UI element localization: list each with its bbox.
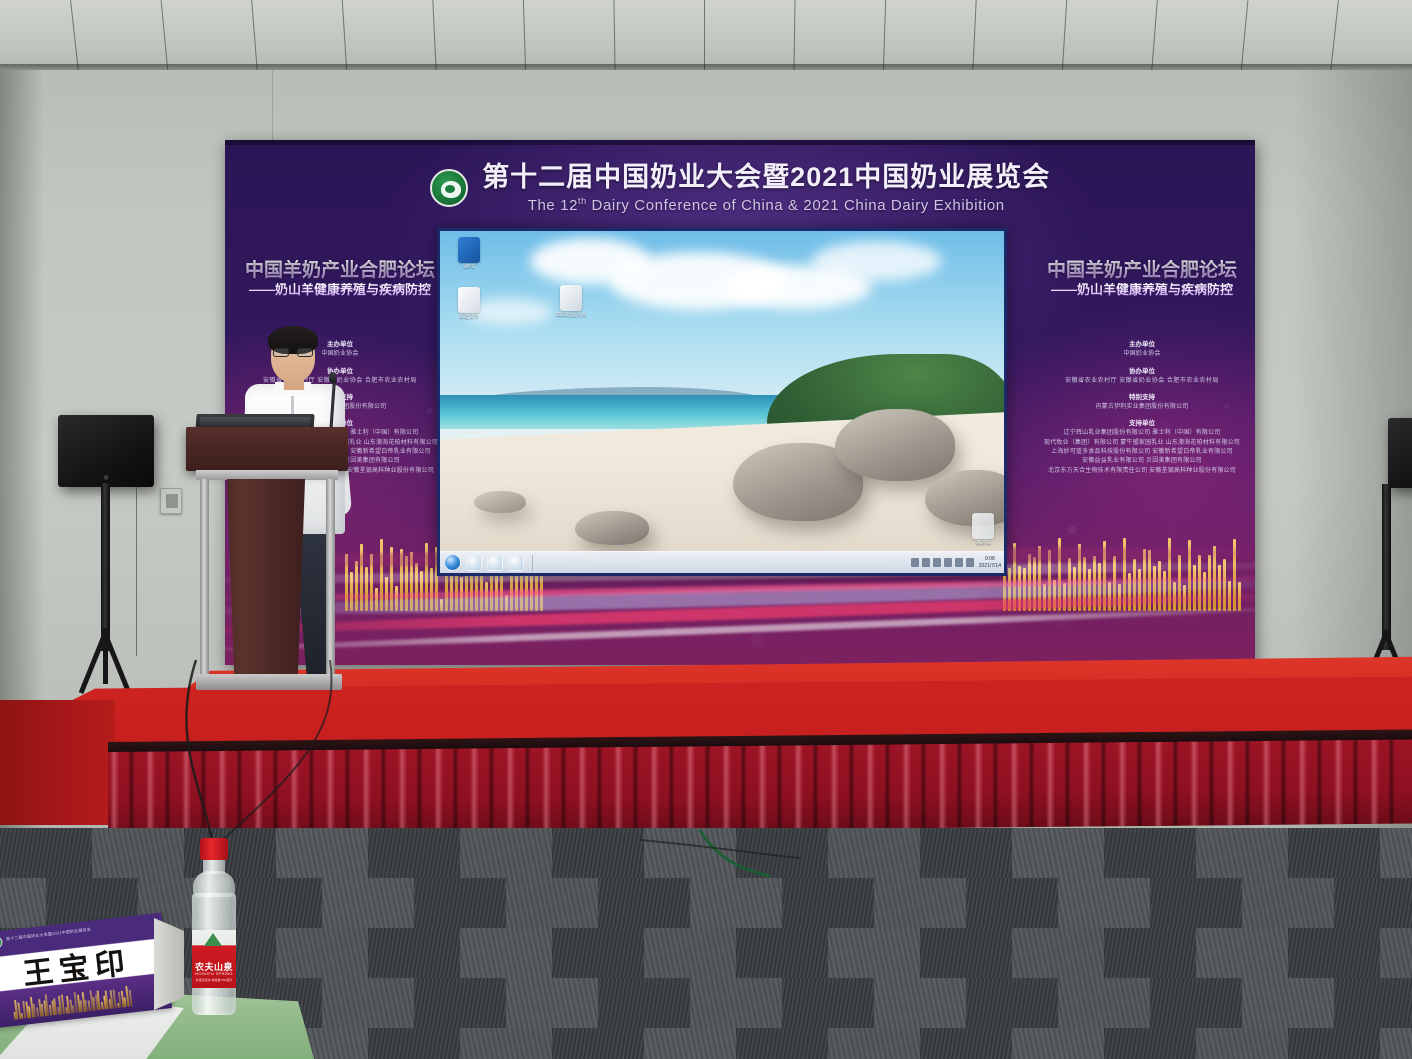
conference-logo xyxy=(0,936,3,949)
sponsor-label: 协办单位 xyxy=(1037,367,1247,377)
wall-outlet xyxy=(160,488,182,514)
desktop-icon-folder[interactable]: 2021奶业大会 xyxy=(548,285,594,319)
bottle-brand-en: NONGFU SPRING xyxy=(192,971,236,976)
bottle-shoulder xyxy=(193,871,235,897)
nameplate-side-panel xyxy=(154,918,184,1010)
lectern-top xyxy=(186,427,348,471)
bottle-sub-text: 饮用天然水 净含量 550毫升 xyxy=(192,978,236,982)
speaker-stand-leg xyxy=(103,628,108,684)
desktop-icon-label: 新建文件 xyxy=(446,315,492,321)
dairy-association-logo xyxy=(430,169,468,207)
clock-date: 2021/7/14 xyxy=(979,563,1001,569)
stage-skirt xyxy=(108,739,1412,836)
sponsor-block-right: 主办单位 中国奶业协会 协办单位 安徽省农业农村厅 安徽省奶业协会 合肥市农业农… xyxy=(1037,340,1247,476)
speaker-icon[interactable] xyxy=(966,558,974,567)
sponsor-value: 上海妙可蓝多食品科技股份有限公司 安徽新希望白帝乳业有限公司 xyxy=(1037,448,1247,457)
desktop-icon-file[interactable]: 演讲稿 xyxy=(960,513,1004,547)
folder-icon xyxy=(560,285,582,311)
forum-subheading-left: ——奶山羊健康养殖与疾病防控 xyxy=(235,283,445,298)
conference-title-cn: 第十二届中国奶业大会暨2021中国奶业展览会 xyxy=(482,162,1050,193)
lectern-rail-left xyxy=(200,479,209,677)
backdrop-top-edge xyxy=(225,140,1255,145)
speaker-stand-pole-right xyxy=(1382,484,1391,650)
sponsor-value: 中国奶业协会 xyxy=(1037,350,1247,359)
beach-rock xyxy=(474,491,526,513)
sponsor-label: 支持单位 xyxy=(1037,419,1247,429)
antivirus-icon[interactable] xyxy=(955,558,963,567)
speaker-cable xyxy=(136,486,137,656)
desktop-icon-label: WPS xyxy=(446,265,492,271)
sponsor-label: 特别支持 xyxy=(1037,393,1247,403)
media-player-icon[interactable] xyxy=(508,555,524,571)
bottle-label: 农夫山泉 NONGFU SPRING 饮用天然水 净含量 550毫升 xyxy=(192,930,236,988)
forum-subheading-right: ——奶山羊健康养殖与疾病防控 xyxy=(1037,283,1247,298)
beach-rock xyxy=(835,409,955,481)
sponsor-value: 现代牧业（集团）有限公司 蒙牛盟家园乳业 山东澳海花柏材料有限公司 xyxy=(1037,439,1247,448)
sponsor-value: 北京东方天合生物技术有限责任公司 安徽荃银高科种业股份有限公司 xyxy=(1037,467,1247,476)
start-orb[interactable] xyxy=(444,554,461,571)
network-icon[interactable] xyxy=(911,558,919,567)
taskbar-clock[interactable]: 9:08 2021/7/14 xyxy=(977,556,1001,569)
lectern-band xyxy=(196,470,338,480)
microphone-head xyxy=(329,372,336,383)
forum-heading-left: 中国羊奶产业合肥论坛 xyxy=(235,260,445,281)
pa-speaker-left xyxy=(58,415,154,487)
sponsor-label: 主办单位 xyxy=(1037,340,1247,350)
conference-title-en: The 12th Dairy Conference of China & 202… xyxy=(482,196,1050,214)
desktop-icon-label: 演讲稿 xyxy=(960,541,1004,547)
wps-icon xyxy=(458,237,480,263)
sponsor-value: 辽宁辉山乳业集团股份有限公司 雅士利（中国）有限公司 xyxy=(1037,429,1247,438)
file-icon xyxy=(972,513,994,539)
stage-left-face xyxy=(0,700,115,825)
bottle-neck xyxy=(203,858,225,874)
system-tray[interactable]: 9:08 2021/7/14 xyxy=(911,556,1004,569)
desktop-icon-label: 2021奶业大会 xyxy=(548,313,594,319)
forum-heading-right: 中国羊奶产业合肥论坛 xyxy=(1037,260,1247,281)
water-bottle: 农夫山泉 NONGFU SPRING 饮用天然水 净含量 550毫升 xyxy=(186,838,242,1020)
sponsor-value: 安徽益益乳业有限公司 贝因美集团有限公司 xyxy=(1037,457,1247,466)
input-method-icon[interactable] xyxy=(933,558,941,567)
ceiling xyxy=(0,0,1412,72)
explorer-icon[interactable] xyxy=(487,555,503,571)
projection-screen[interactable]: WPS 新建文件 2021奶业大会 演讲稿 xyxy=(440,231,1004,573)
mountain-icon xyxy=(204,933,222,946)
conference-room-scene: 第十二届中国奶业大会暨2021中国奶业展览会 The 12th Dairy Co… xyxy=(0,0,1412,1059)
desktop-icon-document[interactable]: 新建文件 xyxy=(446,287,492,321)
backdrop-header: 第十二届中国奶业大会暨2021中国奶业展览会 The 12th Dairy Co… xyxy=(225,162,1255,214)
speaker-stand-pole-left xyxy=(101,483,110,651)
sponsor-value: 安徽省农业农村厅 安徽省奶业协会 合肥市农业农村局 xyxy=(1037,377,1247,386)
desktop-icon-wps[interactable]: WPS xyxy=(446,237,492,271)
internet-explorer-icon[interactable] xyxy=(466,555,482,571)
glasses-icon xyxy=(273,348,313,357)
windows-taskbar[interactable]: 9:08 2021/7/14 xyxy=(440,551,1004,573)
bottle-cap xyxy=(200,838,228,860)
clock-time: 9:08 xyxy=(985,556,995,562)
backdrop-panel-right: 中国羊奶产业合肥论坛 ——奶山羊健康养殖与疾病防控 主办单位 中国奶业协会 协办… xyxy=(1037,260,1247,476)
volume-icon[interactable] xyxy=(922,558,930,567)
beach-rock xyxy=(575,511,649,545)
document-icon xyxy=(458,287,480,313)
nameplate-org-line: 第十二届中国奶业大会暨2021中国奶业展览会 xyxy=(6,927,91,943)
pa-speaker-right xyxy=(1388,418,1412,488)
lectern-rail-right xyxy=(326,479,335,677)
lectern-base xyxy=(196,674,342,690)
battery-icon[interactable] xyxy=(944,558,952,567)
sponsor-value: 内蒙古伊利实业集团股份有限公司 xyxy=(1037,403,1247,412)
taskbar-divider xyxy=(532,555,533,571)
projection-screen-frame: WPS 新建文件 2021奶业大会 演讲稿 xyxy=(437,228,1007,576)
